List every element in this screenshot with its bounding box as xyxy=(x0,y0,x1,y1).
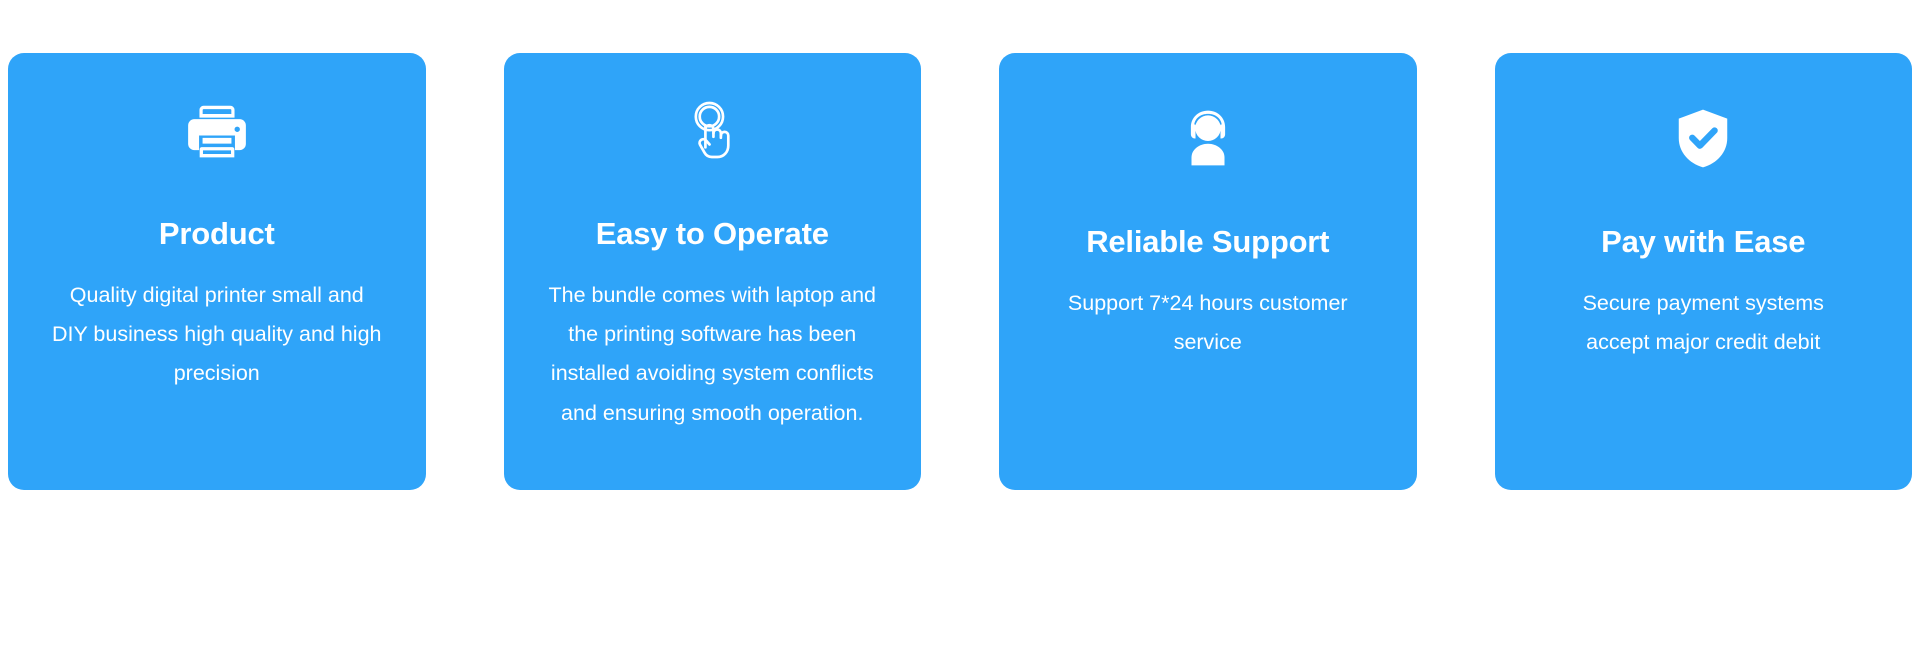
feature-description: Support 7*24 hours customer service xyxy=(1053,284,1363,362)
feature-title: Easy to Operate xyxy=(596,215,829,252)
feature-description: Quality digital printer small and DIY bu… xyxy=(52,276,382,393)
feature-title: Pay with Ease xyxy=(1601,223,1805,260)
shield-check-icon xyxy=(1670,105,1736,171)
feature-card-pay-with-ease[interactable]: Pay with Ease Secure payment systems acc… xyxy=(1495,53,1913,490)
feature-card-product[interactable]: Product Quality digital printer small an… xyxy=(8,53,426,490)
feature-card-reliable-support[interactable]: Reliable Support Support 7*24 hours cust… xyxy=(999,53,1417,490)
feature-title: Product xyxy=(159,215,275,252)
feature-description: The bundle comes with laptop and the pri… xyxy=(547,276,877,433)
customer-support-headset-icon xyxy=(1175,105,1241,171)
feature-description: Secure payment systems accept major cred… xyxy=(1548,284,1858,362)
tap-gesture-icon xyxy=(679,97,745,163)
printer-icon xyxy=(184,97,250,163)
feature-title: Reliable Support xyxy=(1086,223,1329,260)
feature-highlights-strip: Product Quality digital printer small an… xyxy=(0,0,1920,670)
feature-card-easy-to-operate[interactable]: Easy to Operate The bundle comes with la… xyxy=(504,53,922,490)
